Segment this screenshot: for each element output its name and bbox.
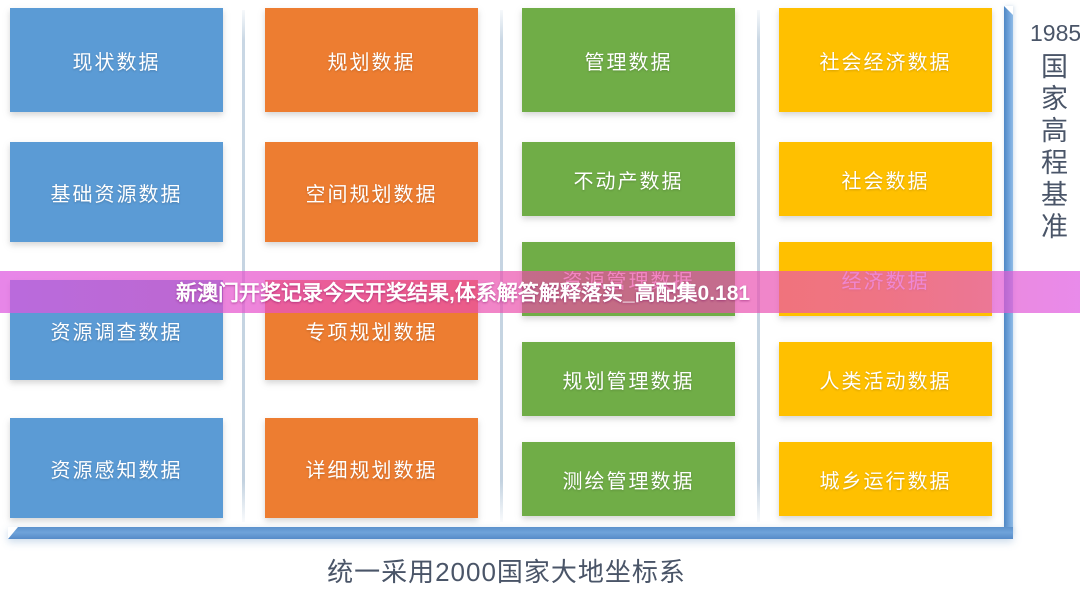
box-column-management-header: 管理数据 bbox=[522, 8, 735, 112]
side-caption-vertical-text: 国家高程基准 bbox=[1031, 52, 1073, 244]
box-column-management-item-2: 规划管理数据 bbox=[522, 342, 735, 416]
box-column-socioeconomic-item-2: 人类活动数据 bbox=[779, 342, 992, 416]
overlay-banner: 新澳门开奖记录今天开奖结果,体系解答解释落实_高配集0.181 bbox=[0, 271, 1080, 313]
box-column-planning-header: 规划数据 bbox=[265, 8, 478, 112]
frame-accent-right bbox=[1004, 6, 1013, 534]
box-column-socioeconomic-item-3: 城乡运行数据 bbox=[779, 442, 992, 516]
frame-accent-bottom bbox=[8, 527, 1013, 539]
column-divider-2 bbox=[500, 10, 503, 522]
column-divider-3 bbox=[757, 10, 760, 522]
side-caption-year: 1985 bbox=[1030, 18, 1074, 48]
box-column-status-item-2: 资源感知数据 bbox=[10, 418, 223, 518]
box-column-status-item-0: 基础资源数据 bbox=[10, 142, 223, 242]
bottom-caption: 统一采用2000国家大地坐标系 bbox=[0, 552, 1013, 589]
box-column-status-header: 现状数据 bbox=[10, 8, 223, 112]
box-column-management-item-0: 不动产数据 bbox=[522, 142, 735, 216]
side-caption: 1985 国家高程基准 bbox=[1030, 18, 1074, 244]
column-divider-1 bbox=[242, 10, 245, 522]
box-column-socioeconomic-item-0: 社会数据 bbox=[779, 142, 992, 216]
box-column-socioeconomic-header: 社会经济数据 bbox=[779, 8, 992, 112]
box-column-planning-item-2: 详细规划数据 bbox=[265, 418, 478, 518]
overlay-banner-text: 新澳门开奖记录今天开奖结果,体系解答解释落实_高配集0.181 bbox=[176, 277, 750, 307]
box-column-management-item-3: 测绘管理数据 bbox=[522, 442, 735, 516]
box-column-planning-item-0: 空间规划数据 bbox=[265, 142, 478, 242]
